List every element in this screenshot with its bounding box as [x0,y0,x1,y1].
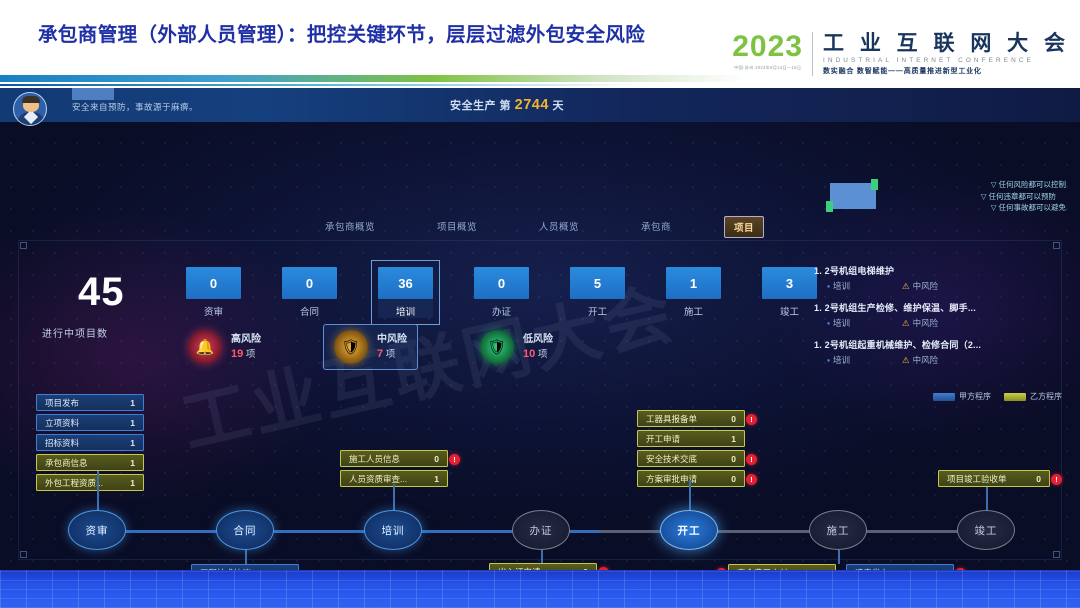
chip-value: 1 [130,418,135,428]
shield-check-icon: 🛡 [480,330,514,364]
chip-label: 招标资料 [45,437,79,449]
kpi-value: 5 [570,267,625,299]
check-icon: ▽ [991,203,997,212]
risk-high[interactable]: 🔔 高风险 19 项 [178,325,271,369]
chip-outsourcing-qualification[interactable]: 外包工程资质...1 [36,474,144,491]
chip-label: 项目发布 [45,397,79,409]
kpi-label: 办证 [474,304,529,318]
conference-logo: 2023 中国·苏州 2023年8月14日—16日 工 业 互 联 网 大 会 … [732,32,1070,76]
warning-triangle-icon: ⚠ [902,318,910,328]
kpi-construction[interactable]: 1 施工 [666,267,721,318]
risk-count: 7 项 [377,347,407,362]
alert-badge-icon: ! [1051,474,1062,485]
tab-contractor-overview[interactable]: 承包商概览 [316,216,384,238]
kpi-value: 0 [186,267,241,299]
slogan-list: ▽任何风险都可以控制 ▽任何违章都可以预防 ▽任何事故都可以避免 [981,179,1066,214]
topbar-placeholder-block [72,88,114,100]
chip-worker-info[interactable]: 施工人员信息0! [340,450,448,467]
kpi-value: 3 [762,267,817,299]
safe-production-label: 安全生产 第 [450,100,511,112]
check-icon: ▽ [991,180,997,189]
slogan-text: 任何违章都可以预防 [989,192,1057,201]
slide-header: 承包商管理（外部人员管理）：把控关键环节，层层过滤外包安全风险 2023 中国·… [0,0,1080,88]
legend-label: 乙方程序 [1030,392,1062,401]
logo-name-block: 工 业 互 联 网 大 会 INDUSTRIAL INTERNET CONFER… [812,32,1070,76]
square-icon: ▪ [827,318,830,328]
chip-value: 1 [130,438,135,448]
avatar[interactable] [13,92,47,126]
chip-safety-briefing[interactable]: 安全技术交底0! [637,450,745,467]
legend: 甲方程序 乙方程序 [933,391,1062,402]
chip-project-release[interactable]: 项目发布1 [36,394,144,411]
timeline-node-qualification-review[interactable]: 资审 [68,510,126,550]
project-stage: ▪培训 [827,317,850,329]
logo-name-cn: 工 业 互 联 网 大 会 [823,32,1070,55]
chip-value: 1 [434,474,439,484]
chip-project-docs[interactable]: 立项资料1 [36,414,144,431]
risk-count: 19 项 [231,347,261,362]
process-timeline: 资审 合同 培训 办证 开工 施工 竣工 [0,510,1080,554]
risk-count: 10 项 [523,347,553,362]
risk-label: 高风险 [231,333,261,347]
chip-value: 1 [130,478,135,488]
project-stage: ▪培训 [827,280,850,292]
timeline-node-construction[interactable]: 施工 [809,510,867,550]
timeline-node-start-work[interactable]: 开工 [660,510,718,550]
check-icon: ▽ [981,192,987,201]
chip-value: 1 [130,458,135,468]
corner-marker [20,242,27,249]
safety-motto: 安全来自预防，事故源于麻痹。 [72,101,198,113]
project-list[interactable]: 1. 2号机组电梯维护 ▪培训 ⚠中风险 1. 2号机组生产检修、维护保温、脚手… [814,264,1064,375]
project-meta: ▪培训 ⚠中风险 [814,317,1064,329]
alert-badge-icon: ! [746,454,757,465]
legend-label: 甲方程序 [959,392,991,401]
slogan-item: ▽任何风险都可以控制 [981,179,1066,191]
slogan-item: ▽任何事故都可以避免 [981,202,1066,214]
slogan-text: 任何风险都可以控制 [999,180,1067,189]
timeline-node-completion[interactable]: 竣工 [957,510,1015,550]
timeline-node-training[interactable]: 培训 [364,510,422,550]
tab-project[interactable]: 项目 [724,216,764,238]
connector [689,480,691,511]
chip-value: 0 [731,414,736,424]
slogan-item: ▽任何违章都可以预防 [981,191,1066,203]
kpi-value: 1 [666,267,721,299]
chip-value: 0 [731,454,736,464]
project-title: 1. 2号机组电梯维护 [814,264,1064,277]
risk-row: 🔔 高风险 19 项 🛡 中风险 7 项 🛡 低风险 10 项 [178,324,563,370]
chip-label: 立项资料 [45,417,79,429]
kpi-label: 开工 [570,304,625,318]
safe-production-counter: 安全生产 第 2744 天 [450,97,564,113]
risk-low[interactable]: 🛡 低风险 10 项 [470,325,563,369]
logo-slogan: 数实融合 数智赋能——高质量推进新型工业化 [823,66,1070,76]
project-stage: ▪培训 [827,354,850,366]
kpi-value: 36 [378,267,433,299]
header-divider-secondary [0,84,640,87]
kpi-label: 培训 [378,304,433,318]
chip-label: 安全技术交底 [646,453,697,465]
dashboard-screenshot: 工业互联网大会 安全来自预防，事故源于麻痹。 安全生产 第 2744 天 ▽任何… [0,88,1080,608]
connector [986,487,988,511]
chip-value: 0 [1036,474,1041,484]
project-risk: ⚠中风险 [902,280,938,292]
decorative-block [830,183,876,209]
project-title: 1. 2号机组起重机械维护、检修合同（2... [814,338,1064,351]
kpi-label: 合同 [282,304,337,318]
list-item[interactable]: 1. 2号机组生产检修、维护保温、脚手... ▪培训 ⚠中风险 [814,301,1064,329]
kpi-contract[interactable]: 0 合同 [282,267,337,318]
tab-project-overview[interactable]: 项目概览 [428,216,486,238]
logo-year-block: 2023 中国·苏州 2023年8月14日—16日 [732,32,812,71]
kpi-value: 0 [282,267,337,299]
logo-year-subtitle: 中国·苏州 2023年8月14日—16日 [732,65,803,71]
list-item[interactable]: 1. 2号机组起重机械维护、检修合同（2... ▪培训 ⚠中风险 [814,338,1064,366]
project-title: 1. 2号机组生产检修、维护保温、脚手... [814,301,1064,314]
kpi-label: 施工 [666,304,721,318]
risk-label: 低风险 [523,333,553,347]
chip-tool-registration[interactable]: 工器具报备单0! [637,410,745,427]
list-item[interactable]: 1. 2号机组电梯维护 ▪培训 ⚠中风险 [814,264,1064,292]
corner-marker [1053,242,1060,249]
chip-label: 人员资质审查... [349,473,407,485]
warning-triangle-icon: ⚠ [902,355,910,365]
legend-item-party-a: 甲方程序 [933,391,991,402]
logo-name-en: INDUSTRIAL INTERNET CONFERENCE [823,57,1070,64]
page-title: 承包商管理（外部人员管理）：把控关键环节，层层过滤外包安全风险 [38,18,645,47]
chip-label: 施工人员信息 [349,453,400,465]
chip-contractor-info[interactable]: 承包商信息1 [36,454,144,471]
alert-badge-icon: ! [449,454,460,465]
slogan-text: 任何事故都可以避免 [999,203,1067,212]
risk-medium[interactable]: 🛡 中风险 7 项 [323,324,418,370]
alert-badge-icon: ! [746,474,757,485]
tab-contractor[interactable]: 承包商 [632,216,680,238]
chip-value: 0 [731,474,736,484]
alert-badge-icon: ! [746,414,757,425]
legend-swatch [933,393,955,401]
logo-year: 2023 [732,32,803,62]
chip-value: 1 [130,398,135,408]
tab-personnel-overview[interactable]: 人员概览 [530,216,588,238]
warning-triangle-icon: ⚠ [902,281,910,291]
kpi-row: 0 资审 0 合同 36 培训 0 办证 5 开工 1 施工 3 竣工 [186,267,817,318]
connector [97,471,99,511]
chip-group-project-release: 项目发布1 立项资料1 招标资料1 承包商信息1 外包工程资质...1 [36,394,144,494]
chip-value: 0 [434,454,439,464]
active-project-count-label: 进行中项目数 [42,325,108,340]
header-divider [0,75,745,82]
kpi-qualification-review[interactable]: 0 资审 [186,267,241,318]
project-meta: ▪培训 ⚠中风险 [814,280,1064,292]
kpi-certification[interactable]: 0 办证 [474,267,529,318]
chip-value: 1 [731,434,736,444]
kpi-start-work[interactable]: 5 开工 [570,267,625,318]
project-meta: ▪培训 ⚠中风险 [814,354,1064,366]
connector [393,484,395,511]
kpi-completion[interactable]: 3 竣工 [762,267,817,318]
chip-start-work-application[interactable]: 开工申请1 [637,430,745,447]
chip-label: 承包商信息 [45,457,88,469]
chip-group-completion: 项目竣工验收单0! [938,470,1050,490]
timeline-node-certification[interactable]: 办证 [512,510,570,550]
alarm-bell-icon: 🔔 [188,330,222,364]
active-project-count: 45 [78,270,125,315]
kpi-training[interactable]: 36 培训 [378,267,433,318]
chip-plan-approval[interactable]: 方案审批申请0! [637,470,745,487]
project-risk: ⚠中风险 [902,354,938,366]
safe-production-days: 2744 [515,97,549,113]
project-risk: ⚠中风险 [902,317,938,329]
safe-production-unit: 天 [552,100,564,112]
chip-completion-acceptance[interactable]: 项目竣工验收单0! [938,470,1050,487]
legend-item-party-b: 乙方程序 [1004,391,1062,402]
square-icon: ▪ [827,281,830,291]
shield-warning-icon: 🛡 [334,330,368,364]
kpi-value: 0 [474,267,529,299]
chip-label: 外包工程资质... [45,477,103,489]
chip-label: 工器具报备单 [646,413,697,425]
legend-swatch [1004,393,1026,401]
risk-label: 中风险 [377,333,407,347]
square-icon: ▪ [827,355,830,365]
dashboard-floor-grid [0,570,1080,608]
chip-label: 项目竣工验收单 [947,473,1007,485]
chip-group-start-work: 工器具报备单0! 开工申请1 安全技术交底0! 方案审批申请0! [637,410,745,490]
chip-label: 开工申请 [646,433,680,445]
kpi-label: 资审 [186,304,241,318]
chip-bidding-docs[interactable]: 招标资料1 [36,434,144,451]
nav-tabs[interactable]: 承包商概览 项目概览 人员概览 承包商 项目 [0,216,1080,238]
kpi-label: 竣工 [762,304,817,318]
timeline-node-contract[interactable]: 合同 [216,510,274,550]
